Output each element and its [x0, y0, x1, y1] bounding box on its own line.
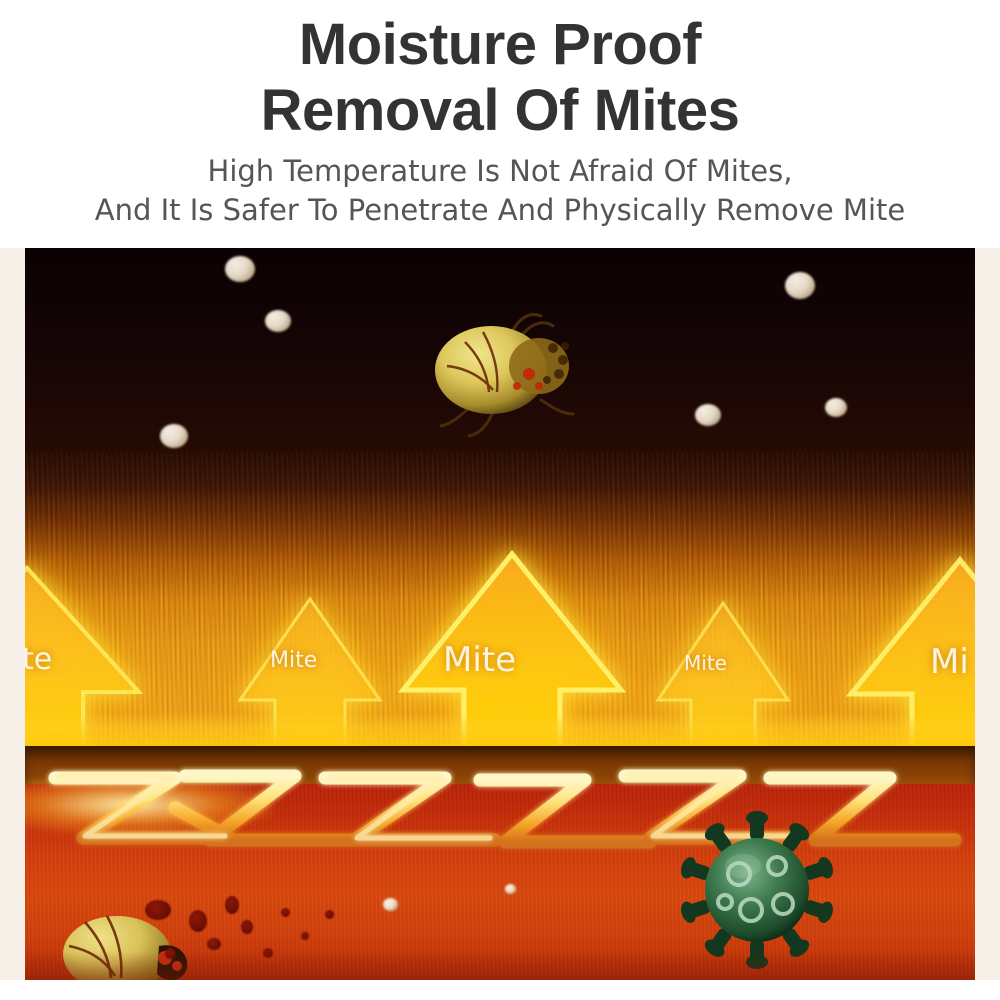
virus-particle-icon — [677, 810, 837, 970]
blood-speck — [189, 910, 207, 932]
mite-removal-illustration: te Mite — [25, 248, 975, 980]
airborne-speck — [225, 256, 255, 282]
fabric-slab-surface — [25, 713, 975, 750]
heat-highlight-glow — [25, 775, 272, 834]
blood-speck — [325, 910, 334, 919]
airborne-speck — [695, 404, 721, 426]
promo-header: Moisture Proof Removal Of Mites High Tem… — [0, 0, 1000, 248]
airborne-speck — [383, 898, 398, 911]
blood-speck — [281, 908, 290, 917]
dust-mite-large-icon — [413, 308, 603, 438]
airborne-speck — [505, 884, 516, 894]
airborne-speck — [265, 310, 291, 332]
illustration-frame: te Mite — [0, 248, 1000, 980]
page-subtitle-line-1: High Temperature Is Not Afraid Of Mites, — [0, 152, 1000, 191]
airborne-speck — [825, 398, 847, 417]
blood-speck — [225, 896, 239, 914]
blood-speck — [145, 900, 171, 920]
blood-speck — [207, 938, 221, 950]
page-subtitle-line-2: And It Is Safer To Penetrate And Physica… — [0, 191, 1000, 230]
blood-speck — [241, 920, 253, 934]
page-subtitle: High Temperature Is Not Afraid Of Mites,… — [0, 152, 1000, 230]
airborne-speck — [785, 272, 815, 299]
blood-speck — [301, 932, 309, 940]
page-title-line-2: Removal Of Mites — [0, 78, 1000, 144]
page-title-line-1: Moisture Proof — [0, 12, 1000, 78]
airborne-speck — [160, 424, 188, 448]
bottom-vignette — [25, 951, 975, 980]
